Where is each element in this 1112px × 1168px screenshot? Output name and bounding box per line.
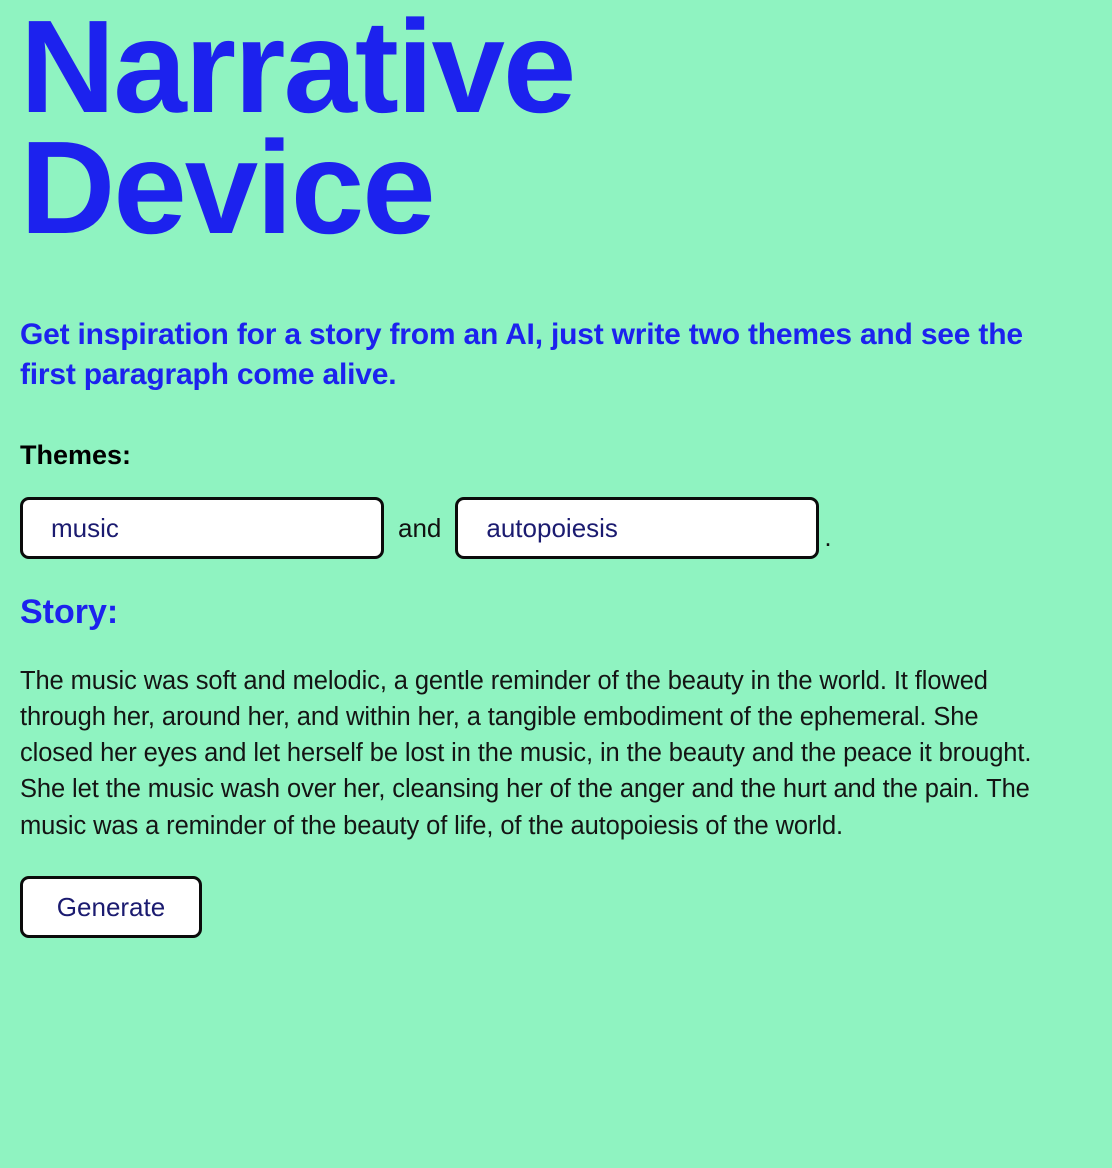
themes-trailing-period: . bbox=[819, 522, 831, 559]
story-paragraph: The music was soft and melodic, a gentle… bbox=[20, 633, 1050, 844]
generate-button[interactable]: Generate bbox=[20, 876, 202, 938]
page-title: Narrative Device bbox=[20, 0, 820, 249]
theme-second-input[interactable] bbox=[455, 497, 819, 559]
themes-row: and . bbox=[20, 497, 1092, 559]
story-heading: Story: bbox=[20, 559, 1092, 633]
themes-conjunction: and bbox=[384, 515, 455, 541]
page-subtitle: Get inspiration for a story from an AI, … bbox=[20, 249, 1030, 395]
themes-label: Themes: bbox=[20, 395, 1092, 471]
app-page: Narrative Device Get inspiration for a s… bbox=[0, 0, 1112, 1168]
theme-first-input[interactable] bbox=[20, 497, 384, 559]
